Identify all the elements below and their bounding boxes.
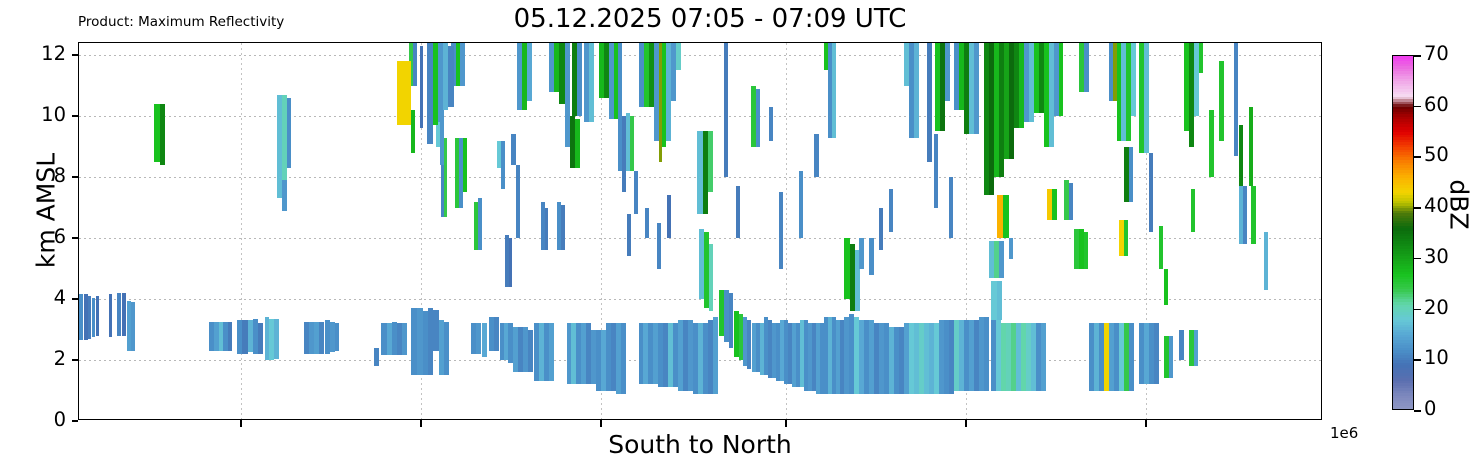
colorbar-tick <box>1414 106 1421 108</box>
colorbar-tick <box>1414 156 1421 158</box>
colorbar-ticks: 010203040506070 <box>0 0 1482 470</box>
colorbar-tick-label: 20 <box>1424 296 1449 319</box>
colorbar-tick <box>1414 359 1421 361</box>
colorbar-title: dBZ <box>1445 140 1474 270</box>
radar-cross-section-figure: 05.12.2025 07:05 - 07:09 UTC Product: Ma… <box>0 0 1482 470</box>
colorbar-tick-label: 70 <box>1424 42 1449 65</box>
colorbar-tick <box>1414 55 1421 57</box>
colorbar-tick <box>1414 410 1421 412</box>
colorbar-tick <box>1414 258 1421 260</box>
colorbar-tick <box>1414 309 1421 311</box>
colorbar-tick-label: 0 <box>1424 397 1436 420</box>
colorbar-tick-label: 10 <box>1424 346 1449 369</box>
colorbar-tick <box>1414 207 1421 209</box>
colorbar-tick-label: 60 <box>1424 93 1449 116</box>
